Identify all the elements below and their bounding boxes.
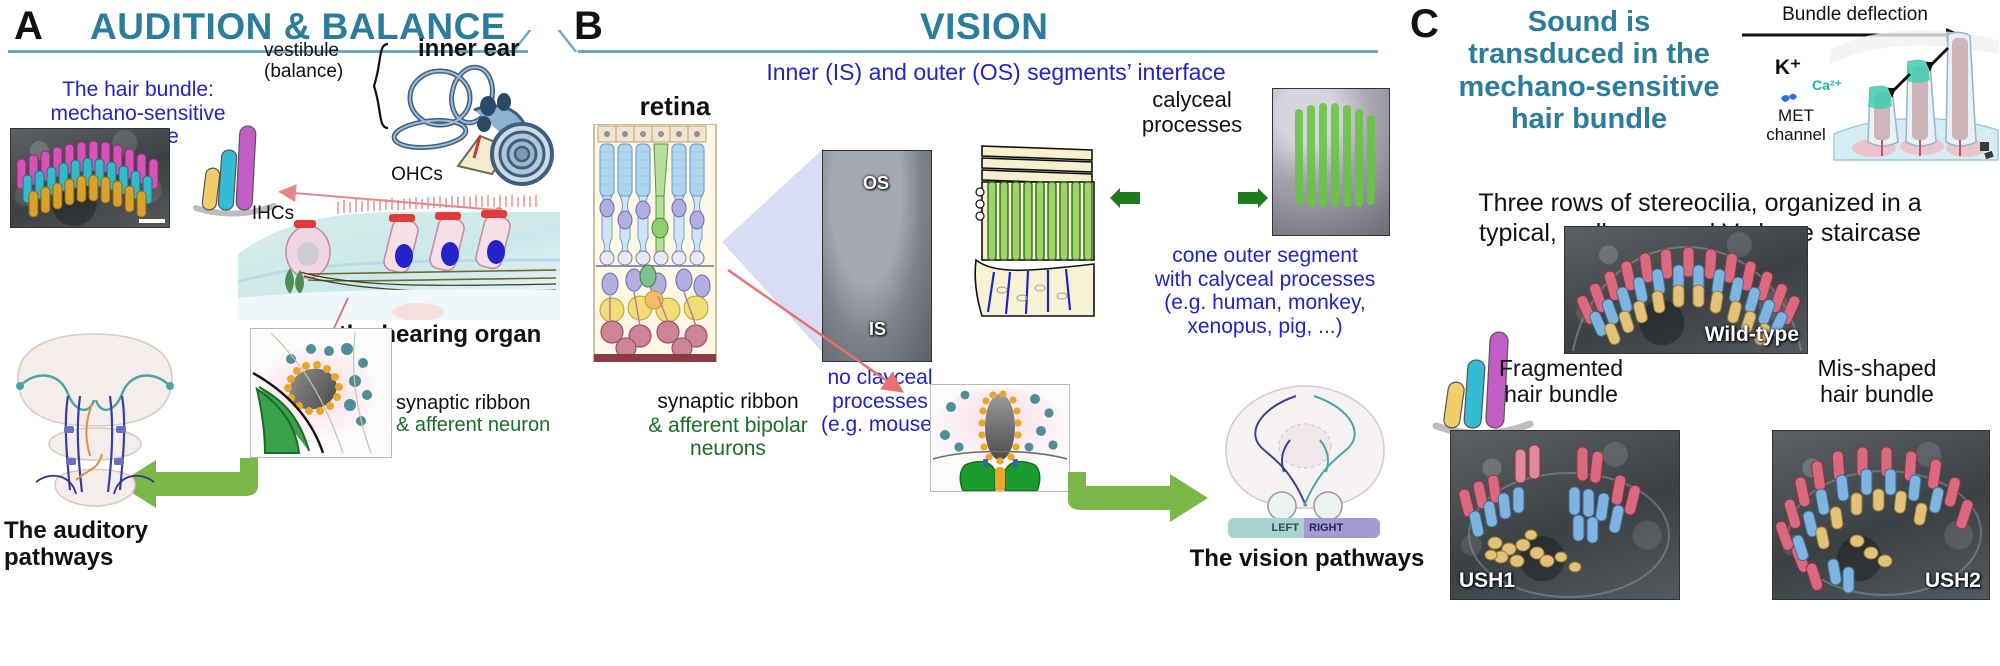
panel-c-title-line4: hair bundle: [1434, 103, 1744, 135]
visual-field-bar: LEFT RIGHT: [1228, 518, 1380, 538]
ohc-label: OHCs: [372, 164, 462, 185]
vestibule-label-line2: (balance): [264, 61, 374, 82]
retina-synapse-arrow: [724, 264, 924, 404]
misshaped-line1: Mis-shaped: [1772, 356, 1982, 382]
transduction-diagram: [1830, 14, 2000, 166]
hearing-organ-illustration: [238, 190, 560, 320]
visual-field-left: LEFT: [1228, 518, 1304, 538]
vestibule-label-line1: vestibule: [264, 40, 374, 61]
synaptic-ribbon-caption-b-line3: neurons: [578, 437, 878, 461]
panel-b-title-rule: [578, 50, 1378, 53]
fragmented-line1: Fragmented: [1456, 356, 1666, 382]
misshaped-caption: Mis-shaped hair bundle: [1772, 356, 1982, 408]
panel-b-title: VISION: [920, 6, 1048, 48]
calyceal-line2: processes: [1112, 113, 1272, 138]
synaptic-ribbon-inset-a: [250, 328, 392, 458]
cone-sem-green-overlay: [1273, 89, 1390, 236]
ush1-label: USH1: [1459, 569, 1515, 593]
cone-outer-line4: xenopus, pig, ...): [1100, 315, 1430, 339]
vestibule-label: vestibule (balance): [264, 40, 374, 83]
panel-c-title-line1: Sound is: [1434, 6, 1744, 38]
stereocilia-v-overlay: [11, 129, 170, 228]
auditory-brain-diagram: [6, 330, 184, 510]
panel-a-letter: A: [14, 6, 43, 46]
panel-c-title-line3: mechano-sensitive: [1434, 71, 1744, 103]
synaptic-ribbon-inset-b: [930, 384, 1070, 492]
cone-outer-line2: with calyceal processes: [1100, 268, 1430, 292]
ush1-sem-image: USH1: [1450, 430, 1680, 600]
ush2-label: USH2: [1925, 569, 1981, 593]
calyceal-line1: calyceal: [1112, 88, 1272, 113]
auditory-pathways-label: The auditory pathways: [4, 518, 264, 572]
cone-outer-line1: cone outer segment: [1100, 244, 1430, 268]
synaptic-ribbon-caption-b-line2: & afferent bipolar: [578, 414, 878, 438]
retina-schematic: [590, 124, 720, 362]
retina-label: retina: [560, 92, 790, 121]
cone-outer-line3: (e.g. human, monkey,: [1100, 291, 1430, 315]
cone-calyceal-sem-image: [1272, 88, 1390, 236]
panel-b-subtitle: Inner (IS) and outer (OS) segments’ inte…: [616, 60, 1376, 86]
cone-outer-caption: cone outer segment with calyceal process…: [1100, 244, 1430, 338]
synaptic-ribbon-caption-a-line2: & afferent neuron: [396, 414, 560, 436]
cone-calyceal-drawing: [966, 140, 1106, 320]
inner-ear-label: inner ear: [418, 36, 538, 63]
wild-type-label: Wild-type: [1705, 323, 1799, 347]
panel-c-title-line2: transduced in the: [1434, 38, 1744, 70]
synaptic-ribbon-caption-b: synaptic ribbon & afferent bipolar neuro…: [578, 390, 878, 461]
panel-c-title: Sound is transduced in the mechano-sensi…: [1434, 6, 1744, 136]
potassium-label: K⁺: [1766, 56, 1810, 80]
hair-bundle-sem-image: [10, 128, 170, 228]
panel-b: B VISION Inner (IS) and outer (OS) segme…: [560, 0, 1400, 666]
fragmented-caption: Fragmented hair bundle: [1456, 356, 1666, 408]
panel-c: C Sound is transduced in the mechano-sen…: [1400, 0, 2000, 666]
figure-root: A AUDITION & BALANCE The hair bundle: me…: [0, 0, 2000, 666]
calyceal-arrow-left-icon: [1108, 188, 1142, 208]
vision-brain-diagram: [1210, 380, 1400, 530]
stereocilia-line1: Three rows of stereocilia, organized in …: [1410, 188, 1990, 218]
visual-field-right: RIGHT: [1304, 518, 1380, 538]
misshaped-line2: hair bundle: [1772, 382, 1982, 408]
synaptic-ribbon-caption-a: synaptic ribbon & afferent neuron: [396, 392, 560, 437]
synaptic-ribbon-caption-a-line1: synaptic ribbon: [396, 392, 560, 414]
wild-type-sem-image: Wild-type: [1564, 226, 1808, 354]
synaptic-ribbon-caption-b-line1: synaptic ribbon: [578, 390, 878, 414]
fragmented-line2: hair bundle: [1456, 382, 1666, 408]
calyceal-processes-label: calyceal processes: [1112, 88, 1272, 137]
hair-bundle-caption-line1: The hair bundle:: [8, 78, 268, 102]
calyceal-arrow-right-icon: [1236, 188, 1270, 208]
os-label: OS: [863, 173, 889, 194]
panel-a: A AUDITION & BALANCE The hair bundle: me…: [0, 0, 560, 666]
vision-pathway-arrow: [1064, 470, 1214, 534]
ush2-sem-image: USH2: [1772, 430, 1990, 600]
